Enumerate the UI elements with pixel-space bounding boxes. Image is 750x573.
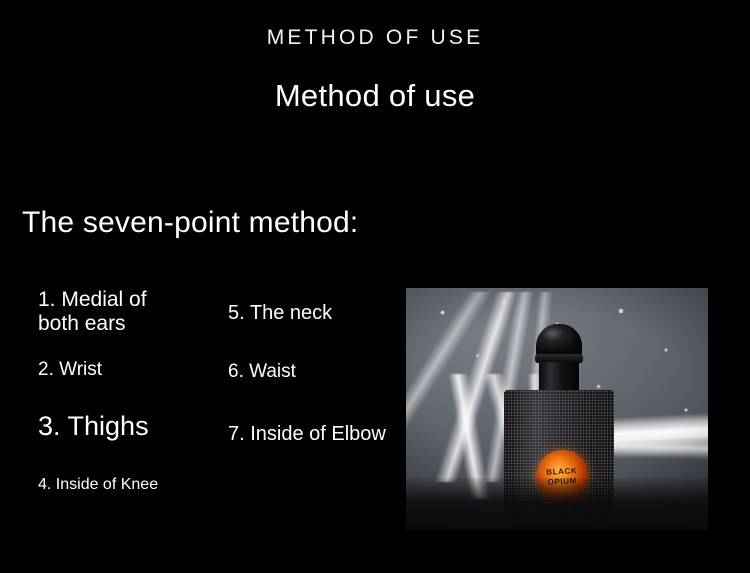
list-item-2: 2. Wrist [38, 359, 228, 381]
page-title: Method of use [0, 78, 750, 114]
slide-canvas: METHOD OF USE Method of use The seven-po… [0, 0, 750, 573]
photo-dark-floor [406, 478, 708, 530]
list-item-4: 4. Inside of Knee [38, 476, 228, 495]
eyebrow-title: METHOD OF USE [0, 26, 750, 50]
list-item-1: 1. Medial of both ears [38, 288, 228, 337]
product-photo: BLACK OPIUM [406, 288, 708, 530]
points-left-column: 1. Medial of both ears 2. Wrist 3. Thigh… [38, 288, 228, 495]
section-heading: The seven-point method: [22, 206, 358, 240]
list-item-7: 7. Inside of Elbow [228, 423, 478, 446]
list-item-3: 3. Thighs [38, 411, 228, 442]
